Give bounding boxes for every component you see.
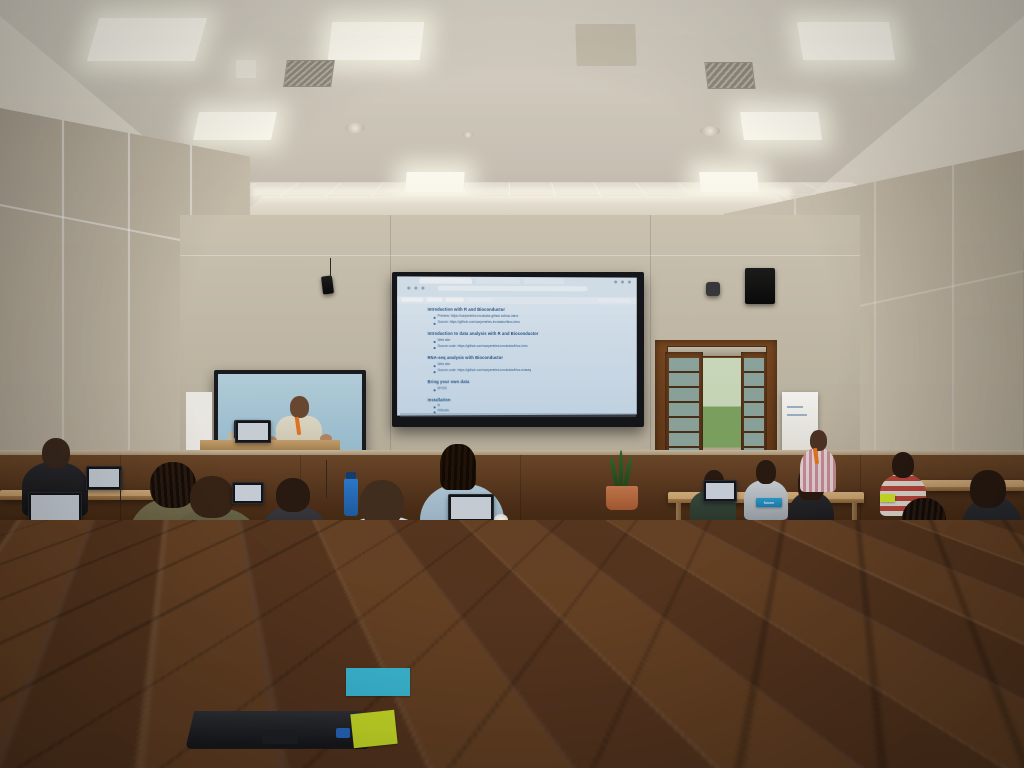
bullet-icon bbox=[434, 371, 436, 373]
projection-screen[interactable]: Introduction with R and Bioconductor Pre… bbox=[392, 272, 644, 427]
forward-icon[interactable] bbox=[414, 287, 417, 290]
saucer bbox=[86, 556, 112, 568]
page-bullet[interactable]: Preview: https://carpentries-incubator.g… bbox=[438, 315, 519, 318]
name-card: Name bbox=[756, 498, 782, 507]
flipchart-mark bbox=[787, 414, 807, 416]
laptop-keyboard[interactable] bbox=[24, 524, 84, 530]
water-bottle bbox=[344, 478, 358, 516]
toolbar-button[interactable] bbox=[446, 298, 464, 302]
wall-seam bbox=[180, 255, 860, 256]
flipchart-mark bbox=[787, 406, 803, 408]
ceiling-tile-stain bbox=[575, 24, 636, 66]
participant-head bbox=[42, 438, 70, 468]
participant-head bbox=[970, 470, 1006, 508]
ceiling-light-panel bbox=[236, 60, 256, 78]
bullet-icon bbox=[434, 365, 436, 367]
classroom-photo: Introduction with R and Bioconductor Pre… bbox=[0, 0, 1024, 768]
screen-taskbar bbox=[400, 413, 636, 417]
sticky-note bbox=[792, 560, 814, 573]
desk-leg bbox=[676, 503, 681, 545]
name-card: Emmanuel bbox=[712, 534, 746, 546]
bottle-cap bbox=[346, 472, 356, 479]
potted-plant bbox=[606, 486, 638, 510]
toolbar-button[interactable] bbox=[597, 298, 630, 302]
bullet-icon bbox=[434, 406, 436, 408]
bullet-icon bbox=[434, 323, 436, 325]
backpack bbox=[796, 650, 862, 710]
participant-head bbox=[892, 452, 914, 478]
participant-head bbox=[756, 460, 776, 484]
ceiling-air-vent bbox=[283, 60, 335, 87]
laptop-display bbox=[706, 483, 734, 499]
projector-content: Introduction with R and Bioconductor Pre… bbox=[397, 276, 637, 415]
smoke-detector-icon bbox=[700, 126, 720, 136]
participant-head bbox=[360, 480, 404, 526]
participant-head bbox=[902, 498, 946, 544]
bullet-icon bbox=[434, 347, 436, 349]
page-bullet[interactable]: Web site bbox=[438, 363, 450, 366]
bullet-icon bbox=[434, 317, 436, 319]
window-close-icon[interactable] bbox=[628, 281, 631, 284]
microphone-stand bbox=[326, 460, 327, 498]
participant-body bbox=[960, 496, 1024, 586]
sticky-note bbox=[880, 494, 895, 502]
participant-head bbox=[190, 476, 234, 518]
name-card bbox=[268, 556, 302, 568]
participant-body bbox=[166, 508, 264, 608]
chair-frame bbox=[902, 648, 916, 752]
participant-body bbox=[800, 448, 836, 492]
laptop-toolbar bbox=[205, 622, 349, 627]
laptop-touchpad[interactable] bbox=[262, 730, 298, 744]
participant-head bbox=[76, 600, 188, 718]
laptop-display bbox=[31, 495, 79, 523]
toolbar-button[interactable] bbox=[401, 298, 423, 302]
sticky-note bbox=[462, 578, 484, 590]
ceiling-light-panel bbox=[87, 18, 207, 61]
laptop[interactable] bbox=[826, 538, 884, 574]
ceiling-light-panel bbox=[328, 22, 425, 60]
page-bullet[interactable]: Web site bbox=[438, 339, 450, 342]
page-bullet[interactable]: Source: https://github.com/carpentries-i… bbox=[438, 321, 520, 324]
page-heading: RNA-seq analysis with Bioconductor bbox=[428, 356, 504, 360]
lanyard bbox=[62, 714, 88, 730]
browser-tab[interactable] bbox=[419, 277, 471, 283]
smoke-detector-icon bbox=[345, 123, 365, 133]
toolbar-button[interactable] bbox=[467, 298, 493, 302]
browser-address-bar[interactable] bbox=[438, 286, 588, 292]
wall-speaker-left-icon bbox=[321, 275, 334, 294]
participant-head bbox=[276, 478, 310, 512]
toolbar-button[interactable] bbox=[427, 298, 443, 302]
plant-leaf bbox=[619, 450, 623, 488]
chair bbox=[940, 690, 1024, 750]
laptop-display bbox=[829, 541, 881, 571]
page-bullet[interactable]: Source code: https://github.com/carpentr… bbox=[438, 345, 528, 348]
ceiling-air-vent bbox=[704, 62, 755, 89]
ceiling-light-panel bbox=[797, 22, 895, 60]
page-heading: Introduction to data analysis with R and… bbox=[428, 332, 539, 336]
microphone-stand bbox=[120, 470, 121, 500]
window-minimize-icon[interactable] bbox=[614, 280, 617, 283]
participant-body bbox=[884, 532, 960, 642]
name-card-text: Emmanuel bbox=[719, 538, 738, 543]
speaker-mount bbox=[330, 258, 331, 278]
laptop-content-row bbox=[209, 631, 339, 633]
page-bullet[interactable]: BYOD bbox=[438, 387, 447, 390]
chair bbox=[0, 600, 60, 646]
presenter-head bbox=[290, 396, 309, 418]
bullet-icon bbox=[434, 389, 436, 391]
back-icon[interactable] bbox=[407, 287, 410, 290]
laptop[interactable] bbox=[448, 494, 494, 522]
page-heading: Bring your own data bbox=[428, 380, 470, 384]
desk bbox=[900, 648, 1024, 668]
laptop-display bbox=[89, 469, 119, 487]
browser-tab[interactable] bbox=[476, 278, 520, 284]
laptop-display bbox=[205, 615, 349, 709]
bullet-icon bbox=[434, 341, 436, 343]
sticky-note bbox=[58, 566, 84, 578]
laptop[interactable] bbox=[703, 480, 737, 502]
laptop-display bbox=[238, 423, 268, 440]
cup bbox=[494, 514, 508, 526]
window-maximize-icon[interactable] bbox=[621, 281, 624, 284]
browser-tab[interactable] bbox=[524, 278, 564, 284]
ceiling-light-panel bbox=[193, 112, 277, 140]
wall-speaker-right-icon bbox=[745, 268, 775, 304]
name-card-text: Name bbox=[764, 500, 775, 505]
name-card-text: Peace bbox=[51, 654, 71, 661]
participant-head bbox=[440, 444, 476, 490]
laptop-titlebar bbox=[205, 615, 349, 622]
intel-sticker-icon bbox=[336, 728, 350, 738]
laptop-display bbox=[451, 497, 491, 519]
cove-light-glow bbox=[252, 188, 792, 204]
desk-leg bbox=[712, 566, 718, 628]
page-bullet[interactable]: Source code: https://github.com/carpentr… bbox=[438, 369, 532, 372]
sticky-note bbox=[350, 710, 397, 748]
floor-cable bbox=[470, 630, 590, 668]
laptop[interactable] bbox=[86, 466, 122, 490]
name-card: Peace bbox=[34, 648, 88, 666]
page-heading-top: Introduction with R and Bioconductor bbox=[428, 308, 506, 312]
presenter-laptop bbox=[235, 420, 271, 443]
laptop-display bbox=[235, 485, 261, 501]
laptop[interactable]: DELL bbox=[202, 612, 352, 712]
page-bullet[interactable]: R bbox=[438, 404, 440, 407]
reload-icon[interactable] bbox=[421, 287, 424, 290]
sticky-note bbox=[818, 566, 834, 575]
laptop-content-row bbox=[209, 636, 313, 638]
page-heading: Installation bbox=[428, 398, 451, 402]
sticky-note bbox=[0, 570, 22, 581]
wall-sensor-icon bbox=[706, 282, 720, 296]
laptop[interactable] bbox=[232, 482, 264, 504]
ceiling-light-panel bbox=[740, 112, 822, 140]
laptop[interactable] bbox=[28, 492, 82, 526]
smoke-detector-icon bbox=[463, 132, 473, 138]
sticky-note bbox=[346, 668, 410, 696]
